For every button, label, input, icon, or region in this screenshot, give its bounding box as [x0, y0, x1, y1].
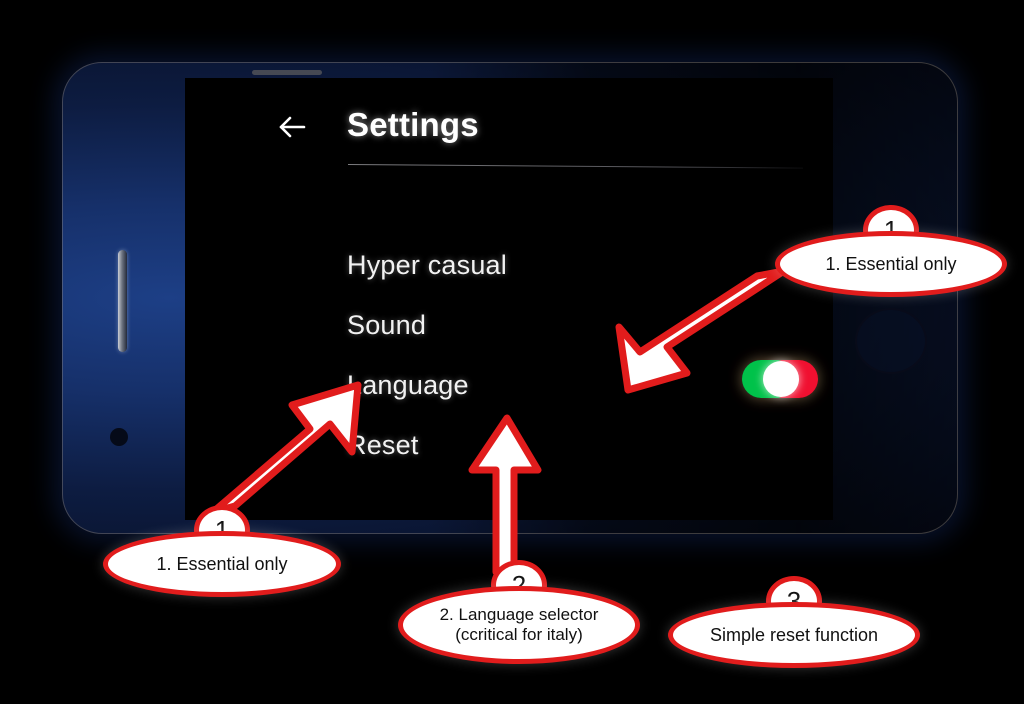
callout-body: Simple reset function — [668, 602, 920, 668]
title-divider — [348, 164, 803, 169]
home-button[interactable] — [855, 308, 927, 374]
phone-screen: Settings Hyper casual Sound Language Res… — [185, 78, 833, 520]
menu-item-reset[interactable]: Reset — [347, 430, 419, 461]
toggle-knob — [763, 361, 799, 397]
callout-text: Simple reset function — [698, 625, 890, 646]
essential-only-toggle[interactable] — [742, 360, 818, 398]
callout-text: 2. Language selector (ccritical for ital… — [428, 605, 611, 644]
callout-text-line2: (ccritical for italy) — [455, 625, 583, 644]
callout-body: 1. Essential only — [775, 231, 1007, 297]
speaker-grille — [252, 70, 322, 75]
callout-text: 1. Essential only — [813, 254, 968, 275]
menu-item-sound[interactable]: Sound — [347, 310, 426, 341]
side-key-button[interactable] — [118, 250, 127, 352]
page-title: Settings — [347, 106, 479, 144]
back-arrow-icon[interactable] — [275, 110, 309, 144]
front-camera-sensor — [110, 428, 128, 446]
menu-item-language[interactable]: Language — [347, 370, 469, 401]
callout-text-line1: 2. Language selector — [440, 605, 599, 624]
menu-item-hyper-casual[interactable]: Hyper casual — [347, 250, 507, 281]
callout-body: 1. Essential only — [103, 531, 341, 597]
callout-body: 2. Language selector (ccritical for ital… — [398, 586, 640, 664]
screenshot-stage: Settings Hyper casual Sound Language Res… — [0, 0, 1024, 704]
callout-text: 1. Essential only — [144, 554, 299, 575]
